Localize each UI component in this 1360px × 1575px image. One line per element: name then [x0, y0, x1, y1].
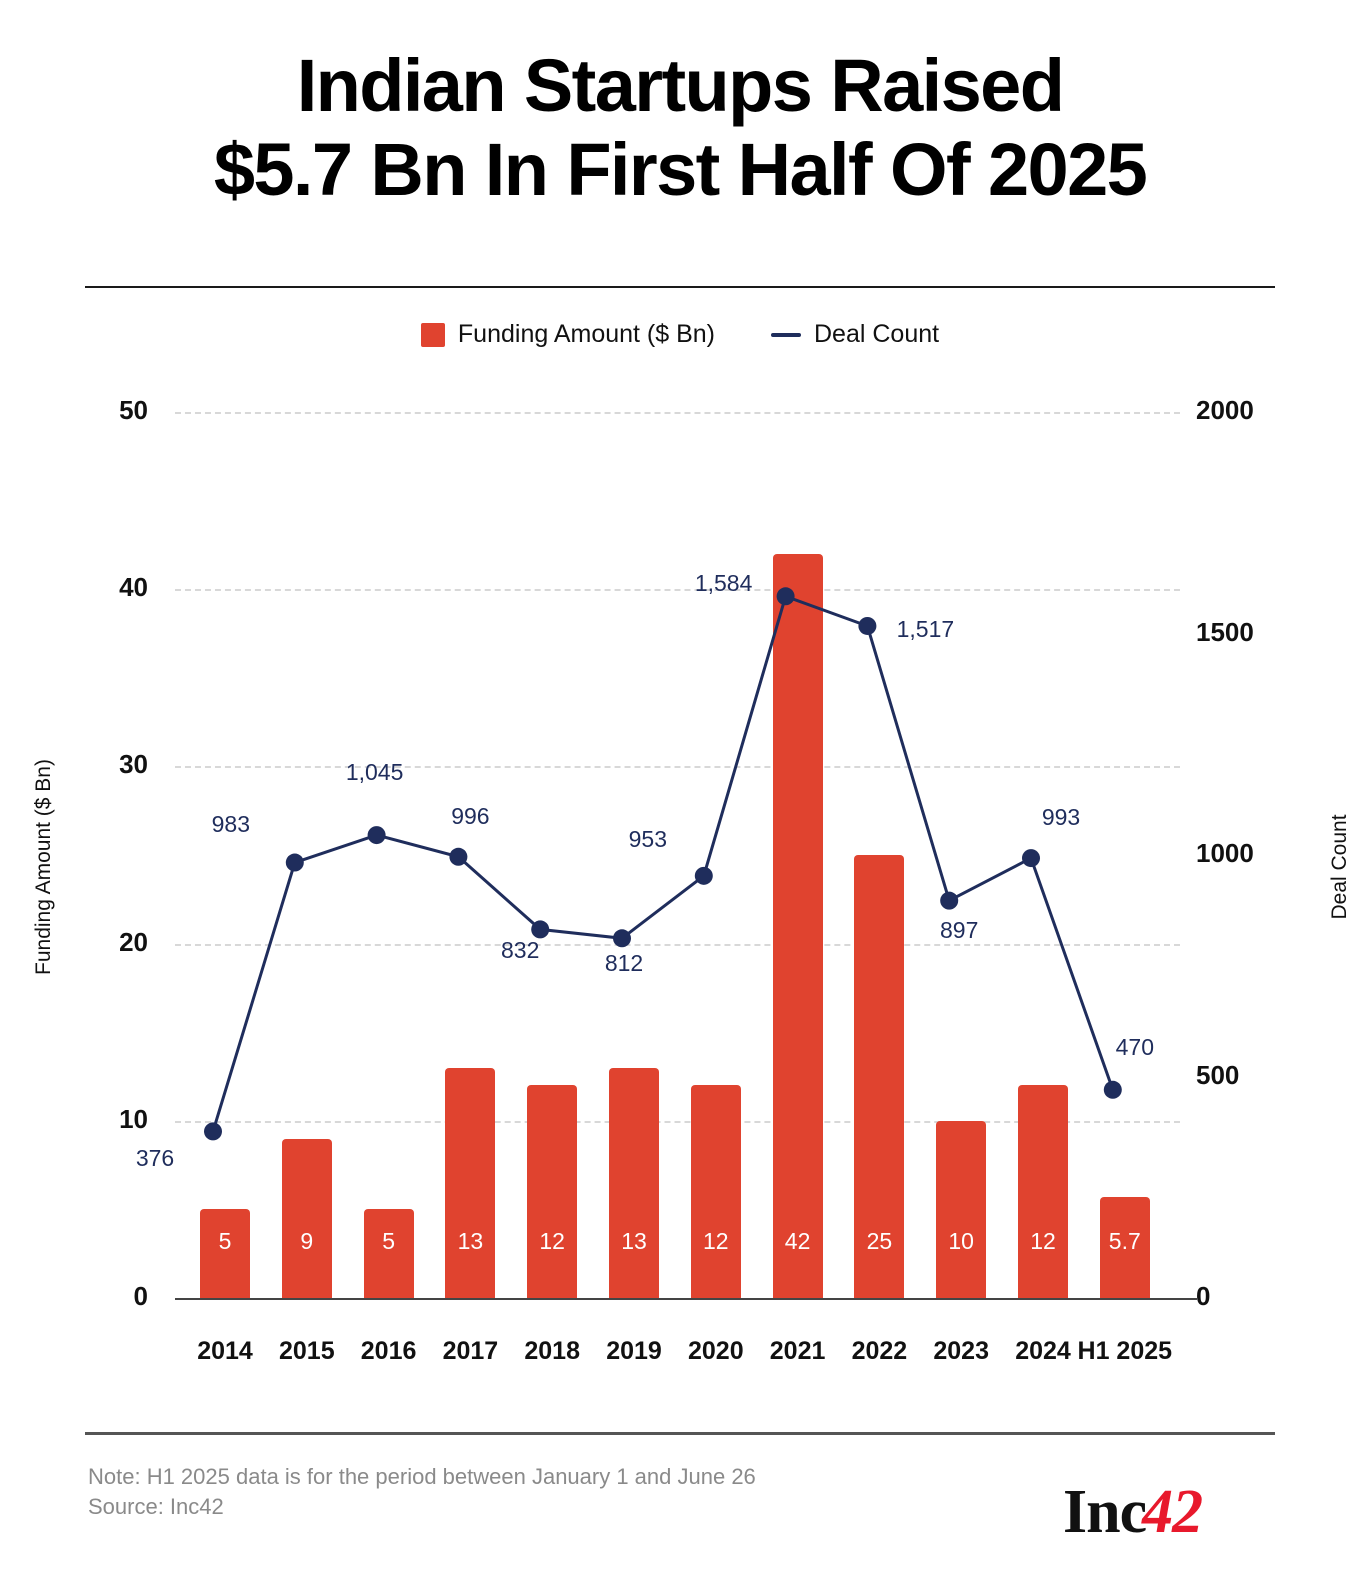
bar-value-label: 9: [277, 1228, 337, 1255]
line-marker[interactable]: [368, 826, 386, 844]
y-axis-title-left: Funding Amount ($ Bn): [32, 717, 56, 1017]
bar-value-label: 10: [931, 1228, 991, 1255]
footer-note-text: Note: H1 2025 data is for the period bet…: [88, 1462, 756, 1492]
bar-value-label: 42: [768, 1228, 828, 1255]
deal-count-label: 470: [1080, 1034, 1190, 1061]
line-marker[interactable]: [204, 1122, 222, 1140]
y-axis-title-right: Deal Count: [1328, 717, 1352, 1017]
bar-value-label: 5: [359, 1228, 419, 1255]
y-axis-left-tick-label: 20: [78, 927, 148, 958]
bar-value-label: 5: [195, 1228, 255, 1255]
deal-count-label: 1,045: [320, 759, 430, 786]
logo-text-42: 42: [1142, 1477, 1202, 1548]
line-marker[interactable]: [1022, 849, 1040, 867]
bar-value-label: 5.7: [1095, 1228, 1155, 1255]
y-axis-left-tick-label: 40: [78, 572, 148, 603]
bar[interactable]: [282, 1139, 332, 1298]
bar-value-label: 12: [522, 1228, 582, 1255]
deal-count-label: 996: [415, 803, 525, 830]
deal-count-label: 1,584: [669, 570, 779, 597]
bar[interactable]: [609, 1068, 659, 1298]
deal-count-label: 812: [569, 950, 679, 977]
bar-value-label: 12: [1013, 1228, 1073, 1255]
y-axis-right-tick-label: 1000: [1196, 838, 1306, 869]
line-marker[interactable]: [286, 854, 304, 872]
line-marker[interactable]: [940, 892, 958, 910]
bar[interactable]: [1018, 1085, 1068, 1298]
deal-count-label: 953: [593, 826, 703, 853]
bar[interactable]: [445, 1068, 495, 1298]
bar-value-label: 25: [849, 1228, 909, 1255]
bar-value-label: 12: [686, 1228, 746, 1255]
deal-count-label: 897: [904, 917, 1014, 944]
y-axis-left-tick-label: 10: [78, 1104, 148, 1135]
chart-plot-area: Funding Amount ($ Bn) Deal Count 0102030…: [0, 0, 1360, 1575]
y-axis-left-tick-label: 50: [78, 395, 148, 426]
deal-count-label: 993: [1006, 804, 1116, 831]
gridline: [175, 412, 1180, 414]
line-marker[interactable]: [531, 920, 549, 938]
x-axis-tick-label: H1 2025: [1070, 1337, 1180, 1366]
y-axis-right-tick-label: 0: [1196, 1281, 1306, 1312]
line-marker[interactable]: [695, 867, 713, 885]
logo-text-inc: Inc: [1063, 1477, 1146, 1548]
y-axis-right-tick-label: 1500: [1196, 617, 1306, 648]
bottom-divider: [85, 1432, 1275, 1435]
y-axis-right-tick-label: 2000: [1196, 395, 1306, 426]
bar[interactable]: [691, 1085, 741, 1298]
y-axis-left-tick-label: 0: [78, 1281, 148, 1312]
inc42-logo: Inc 42: [1063, 1477, 1202, 1548]
line-marker[interactable]: [449, 848, 467, 866]
deal-count-label: 983: [176, 811, 286, 838]
y-axis-right-tick-label: 500: [1196, 1060, 1306, 1091]
bar[interactable]: [527, 1085, 577, 1298]
bar-value-label: 13: [604, 1228, 664, 1255]
x-axis-baseline: [175, 1298, 1197, 1300]
deal-count-label: 376: [100, 1145, 210, 1172]
y-axis-left-tick-label: 30: [78, 749, 148, 780]
deal-count-label: 1,517: [870, 616, 980, 643]
footer-note: Note: H1 2025 data is for the period bet…: [88, 1462, 756, 1523]
footer-source-text: Source: Inc42: [88, 1492, 756, 1522]
gridline: [175, 944, 1180, 946]
bar-value-label: 13: [440, 1228, 500, 1255]
deal-count-line: [213, 596, 1113, 1131]
bar[interactable]: [936, 1121, 986, 1298]
deal-count-label: 832: [465, 937, 575, 964]
line-marker[interactable]: [1104, 1081, 1122, 1099]
bar[interactable]: [773, 554, 823, 1298]
